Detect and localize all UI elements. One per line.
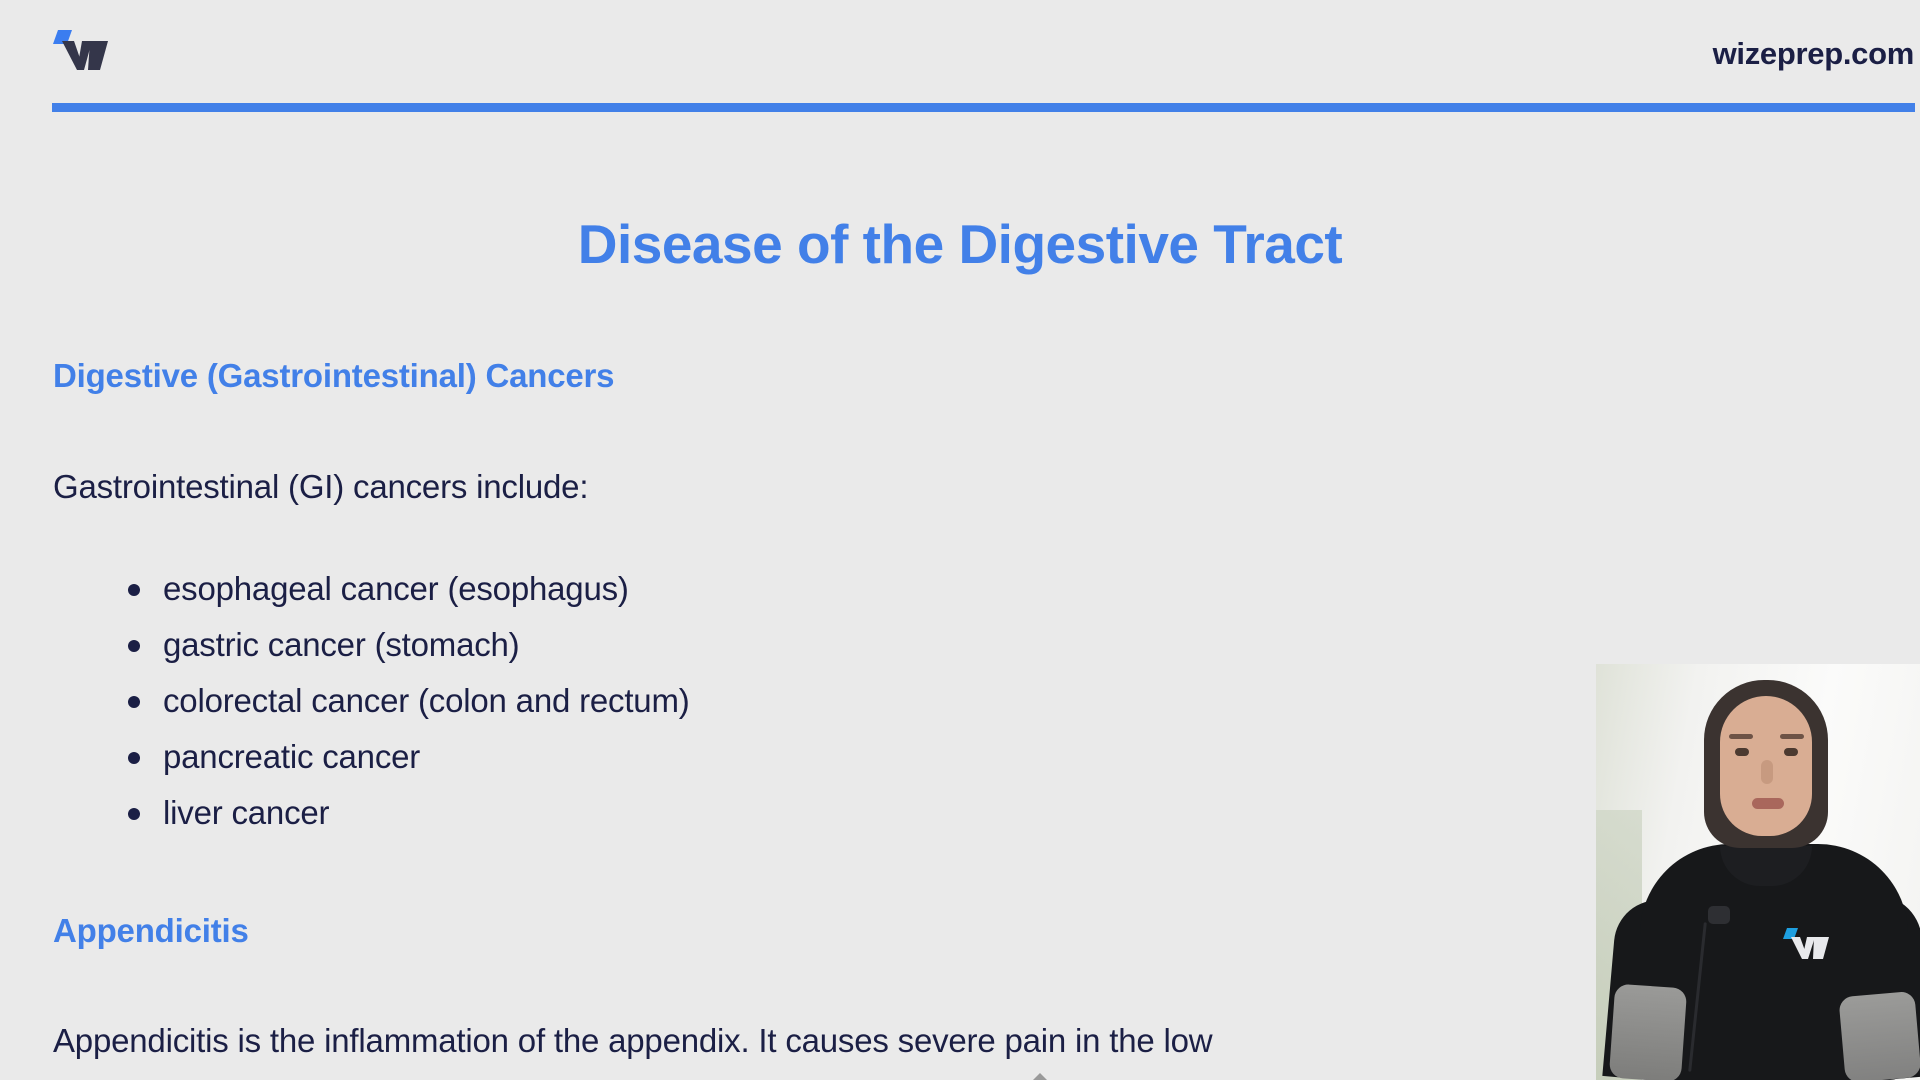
list-item-label: liver cancer bbox=[163, 794, 329, 831]
presenter-sleeve-right bbox=[1838, 991, 1920, 1080]
presenter-mouth bbox=[1752, 798, 1784, 809]
bullet-dot-icon bbox=[128, 808, 140, 820]
bullet-dot-icon bbox=[128, 696, 140, 708]
list-item: pancreatic cancer bbox=[128, 740, 690, 773]
presenter-eyebrow-left bbox=[1729, 734, 1753, 739]
bullet-dot-icon bbox=[128, 752, 140, 764]
intro-paragraph: Gastrointestinal (GI) cancers include: bbox=[53, 468, 588, 506]
presenter-sleeve-left bbox=[1609, 984, 1687, 1080]
presenter-eye-right bbox=[1784, 748, 1798, 756]
header-divider-rule bbox=[52, 103, 1915, 112]
list-item-label: colorectal cancer (colon and rectum) bbox=[163, 682, 690, 719]
list-item: liver cancer bbox=[128, 796, 690, 829]
lavalier-mic-icon bbox=[1708, 906, 1730, 924]
gi-cancer-bullet-list: esophageal cancer (esophagus) gastric ca… bbox=[128, 572, 690, 829]
section-heading-appendicitis: Appendicitis bbox=[53, 912, 249, 950]
slide-canvas: wizeprep.com Disease of the Digestive Tr… bbox=[0, 0, 1920, 1080]
playhead-marker-icon[interactable] bbox=[1033, 1073, 1047, 1080]
appendicitis-paragraph: Appendicitis is the inflammation of the … bbox=[53, 1022, 1212, 1060]
presenter-video-overlay[interactable] bbox=[1596, 664, 1920, 1080]
section-heading-cancers: Digestive (Gastrointestinal) Cancers bbox=[53, 357, 614, 395]
list-item: gastric cancer (stomach) bbox=[128, 628, 690, 661]
wize-w-logo-icon bbox=[52, 26, 114, 74]
presenter-eyebrow-right bbox=[1780, 734, 1804, 739]
presenter-eye-left bbox=[1735, 748, 1749, 756]
list-item-label: gastric cancer (stomach) bbox=[163, 626, 519, 663]
page-title: Disease of the Digestive Tract bbox=[0, 215, 1920, 274]
bullet-dot-icon bbox=[128, 584, 140, 596]
list-item: esophageal cancer (esophagus) bbox=[128, 572, 690, 605]
list-item: colorectal cancer (colon and rectum) bbox=[128, 684, 690, 717]
wize-w-logo-icon-shirt bbox=[1782, 926, 1836, 962]
brand-url-label: wizeprep.com bbox=[1713, 36, 1914, 72]
slide-header: wizeprep.com bbox=[0, 0, 1920, 103]
bullet-dot-icon bbox=[128, 640, 140, 652]
presenter-nose bbox=[1761, 760, 1773, 784]
list-item-label: pancreatic cancer bbox=[163, 738, 420, 775]
list-item-label: esophageal cancer (esophagus) bbox=[163, 570, 629, 607]
